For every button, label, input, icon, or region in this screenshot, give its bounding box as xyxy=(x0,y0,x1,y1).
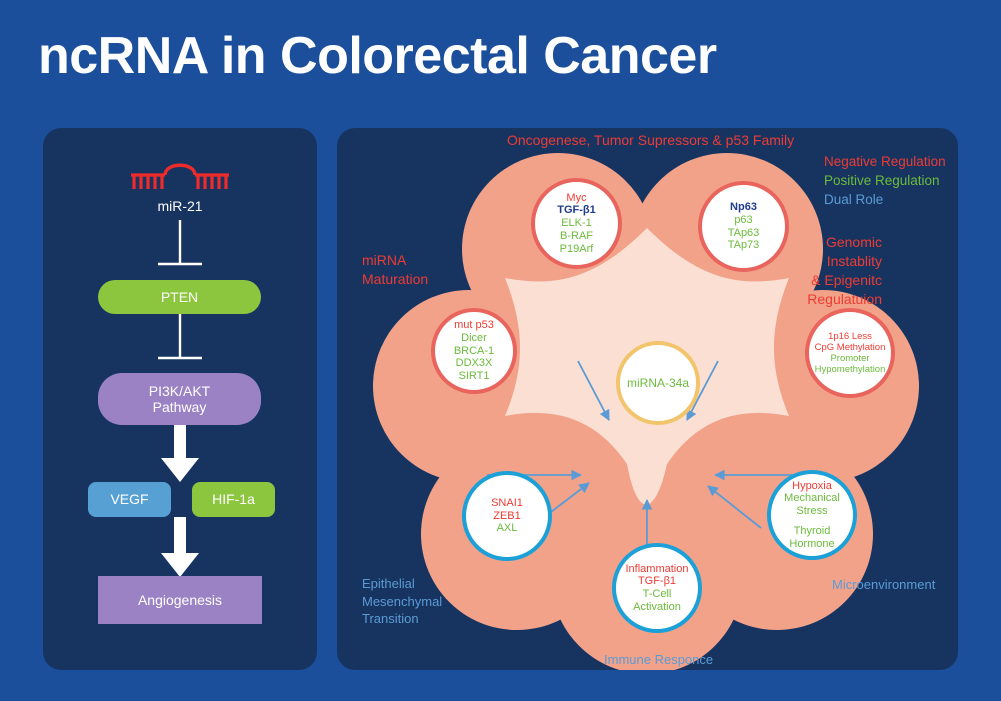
node-angiogenesis[interactable]: Angiogenesis xyxy=(98,576,262,624)
legend-item-negative-regulation: Negative Regulation xyxy=(824,152,946,171)
center-node-label: miRNA-34a xyxy=(627,376,689,390)
connector-pi3k-downstream xyxy=(156,424,204,484)
bubble-mutp53-line-0: mut p53 xyxy=(454,319,494,332)
bubble-infl-line-0: Inflammation xyxy=(626,563,689,576)
connector-downstream-angiogenesis xyxy=(156,517,204,579)
bubble-myc[interactable]: Myc TGF-β1 ELK-1 B-RAF P19Arf xyxy=(531,178,622,269)
legend-item-dual-role: Dual Role xyxy=(824,190,946,209)
caption-microenvironment: Microenvironment xyxy=(832,576,935,594)
connector-pten-pi3k xyxy=(130,314,230,376)
bubble-np63-line-3: TAp73 xyxy=(728,239,760,252)
node-hif1a[interactable]: HIF-1a xyxy=(192,482,275,517)
caption-emt: Epithelial Mesenchymal Transition xyxy=(362,575,442,628)
bubble-mutp53-line-1: Dicer xyxy=(461,332,487,345)
node-pi3k-label: PI3K/AKT Pathway xyxy=(149,383,210,415)
bubble-1p16-line-2: Promoter xyxy=(830,353,869,364)
caption-genomic-instability: Genomic Instablity & Epigenitc Regulatui… xyxy=(807,233,882,309)
node-vegf-label: VEGF xyxy=(110,491,148,507)
bubble-myc-line-4: P19Arf xyxy=(560,243,594,256)
node-hif-label: HIF-1a xyxy=(212,491,255,507)
bubble-np63-line-2: TAp63 xyxy=(728,227,760,240)
bubble-infl-line-3: Activation xyxy=(633,601,681,614)
node-pten[interactable]: PTEN xyxy=(98,280,261,314)
bubble-1p16-methylation[interactable]: 1p16 Less CpG Methylation Promoter Hypom… xyxy=(805,308,895,398)
bubble-hypoxia-line-2: Stress xyxy=(796,505,827,518)
caption-oncogenes: Oncogenese, Tumor Supressors & p53 Famil… xyxy=(507,131,794,150)
bubble-infl-line-2: T-Cell xyxy=(643,588,672,601)
bubble-1p16-line-0: 1p16 Less xyxy=(828,331,872,342)
bubble-mutp53-line-4: SIRT1 xyxy=(459,370,490,383)
bubble-snai1-emt[interactable]: SNAI1 ZEB1 AXL xyxy=(462,471,552,561)
bubble-hypoxia-line-0: Hypoxia xyxy=(792,480,832,493)
caption-mirna-maturation: miRNA Maturation xyxy=(362,251,428,289)
bubble-mut-p53[interactable]: mut p53 Dicer BRCA-1 DDX3X SIRT1 xyxy=(431,308,517,394)
bubble-np63-line-0: Np63 xyxy=(730,201,757,214)
legend-item-positive-regulation: Positive Regulation xyxy=(824,171,946,190)
bubble-myc-line-0: Myc xyxy=(566,192,586,205)
bubble-np63-line-1: p63 xyxy=(734,214,752,227)
bubble-1p16-line-1: CpG Methylation xyxy=(815,342,886,353)
bubble-snai1-line-2: AXL xyxy=(497,522,518,535)
bubble-snai1-line-1: ZEB1 xyxy=(493,510,521,523)
mirna-hairpin-icon xyxy=(129,163,231,197)
node-pten-label: PTEN xyxy=(161,289,198,305)
bubble-np63[interactable]: Np63 p63 TAp63 TAp73 xyxy=(698,181,789,272)
bubble-hypoxia-line-4: Thyroid xyxy=(794,525,831,538)
bubble-inflammation[interactable]: Inflammation TGF-β1 T-Cell Activation xyxy=(612,543,702,633)
bubble-hypoxia-line-5: Hormone xyxy=(789,538,834,551)
node-pi3k-akt-pathway[interactable]: PI3K/AKT Pathway xyxy=(98,373,261,425)
bubble-mutp53-line-2: BRCA-1 xyxy=(454,345,494,358)
bubble-infl-line-1: TGF-β1 xyxy=(638,575,676,588)
caption-immune-response: Immune Responce xyxy=(604,651,713,669)
node-angiogenesis-label: Angiogenesis xyxy=(138,592,222,608)
mir21-label: miR-21 xyxy=(98,198,262,214)
legend: Negative Regulation Positive Regulation … xyxy=(824,152,946,209)
node-vegf[interactable]: VEGF xyxy=(88,482,171,517)
bubble-myc-line-1: TGF-β1 xyxy=(557,204,596,217)
bubble-mutp53-line-3: DDX3X xyxy=(456,357,493,370)
bubble-hypoxia-line-1: Mechanical xyxy=(784,492,840,505)
bubble-hypoxia-microenvironment[interactable]: Hypoxia Mechanical Stress Thyroid Hormon… xyxy=(767,470,857,560)
connector-mir21-pten xyxy=(130,220,230,282)
center-node-mirna34a[interactable]: miRNA-34a xyxy=(616,341,700,425)
bubble-myc-line-2: ELK-1 xyxy=(561,217,592,230)
bubble-1p16-line-3: Hypomethylation xyxy=(815,364,886,375)
bubble-snai1-line-0: SNAI1 xyxy=(491,497,523,510)
page-title: ncRNA in Colorectal Cancer xyxy=(38,26,717,86)
bubble-myc-line-3: B-RAF xyxy=(560,230,593,243)
